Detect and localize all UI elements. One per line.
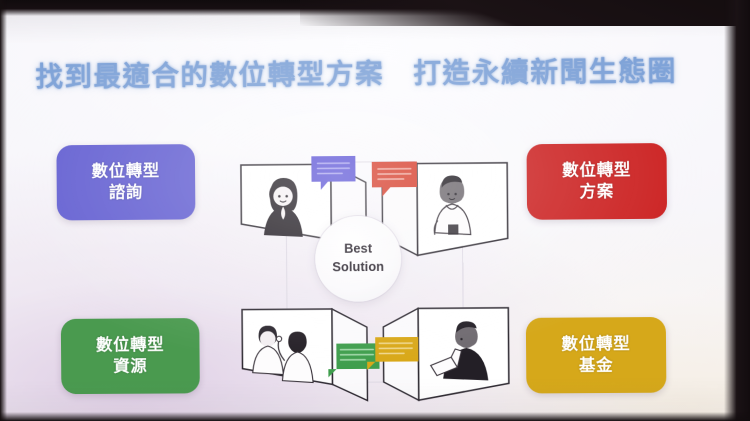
card-solution[interactable]: 數位轉型 方案 [527,143,668,220]
card-consulting[interactable]: 數位轉型 諮詢 [56,144,195,220]
projection-screen: 找到最適合的數位轉型方案 打造永續新聞生態圈 [0,0,749,421]
slide-title: 找到最適合的數位轉型方案 打造永續新聞生態圈 [35,48,711,94]
card-consulting-line1: 數位轉型 [92,161,160,183]
card-fund-line2: 基金 [579,355,614,377]
projected-slide-photo: 找到最適合的數位轉型方案 打造永續新聞生態圈 [0,0,750,421]
panel-bottom-right [367,308,509,401]
slide-content: 找到最適合的數位轉型方案 打造永續新聞生態圈 [0,0,749,421]
card-solution-line1: 數位轉型 [562,160,631,182]
card-solution-line2: 方案 [580,181,615,203]
card-resources[interactable]: 數位轉型 資源 [61,318,200,394]
card-resources-line1: 數位轉型 [96,334,164,356]
center-label-line2: Solution [332,259,384,277]
card-fund-line1: 數位轉型 [561,333,630,355]
center-label-line1: Best [344,241,372,259]
card-consulting-line2: 諮詢 [109,182,143,204]
card-resources-line2: 資源 [113,356,147,378]
card-fund[interactable]: 數位轉型 基金 [526,317,667,394]
best-solution-circle: Best Solution [315,216,402,302]
panel-bottom-left [242,309,380,402]
